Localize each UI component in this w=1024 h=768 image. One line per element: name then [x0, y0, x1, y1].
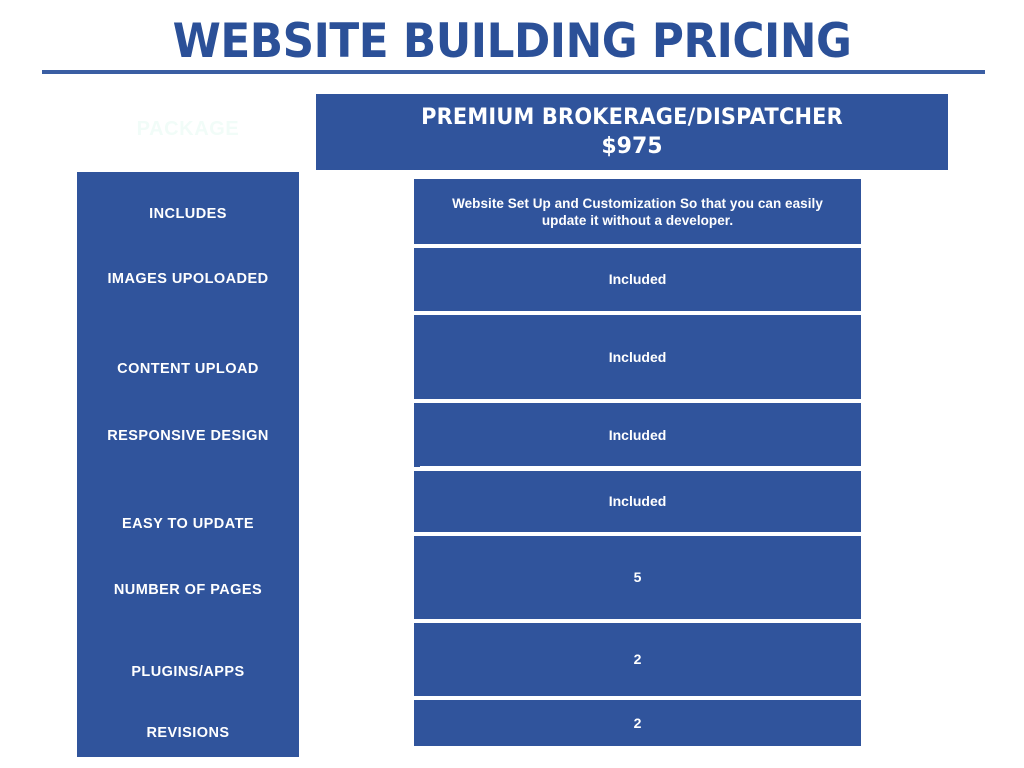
page-title: WEBSITE BUILDING PRICING — [36, 14, 988, 70]
value-cell-content-upload: Included — [414, 315, 861, 399]
feature-label-images-uploaded: IMAGES UPOLOADED — [77, 268, 299, 291]
value-cell-responsive-design: Included — [414, 403, 861, 467]
package-column-header: PACKAGE — [77, 118, 299, 141]
value-cell-number-of-pages: 5 — [414, 536, 861, 619]
title-divider — [42, 70, 985, 74]
value-cell-easy-to-update: Included — [414, 471, 861, 532]
value-cell-includes: Website Set Up and Customization So that… — [414, 179, 861, 244]
row-separator — [420, 466, 861, 471]
feature-label-content-upload: CONTENT UPLOAD — [77, 358, 299, 381]
feature-label-easy-to-update: EASY TO UPDATE — [77, 513, 299, 536]
feature-label-responsive-design: RESPONSIVE DESIGN — [77, 425, 299, 448]
plan-header-card: PREMIUM BROKERAGE/DISPATCHER $975 — [316, 94, 948, 170]
feature-label-number-of-pages: NUMBER OF PAGES — [77, 579, 299, 602]
feature-sidebar: INCLUDES IMAGES UPOLOADED CONTENT UPLOAD… — [77, 172, 299, 757]
value-cell-revisions: 2 — [414, 700, 861, 746]
feature-label-includes: INCLUDES — [77, 203, 299, 226]
feature-label-revisions: REVISIONS — [77, 722, 299, 745]
feature-label-plugins-apps: PLUGINS/APPS — [77, 661, 299, 684]
pricing-slide: WEBSITE BUILDING PRICING PACKAGE PREMIUM… — [0, 0, 1024, 768]
value-cell-plugins-apps: 2 — [414, 623, 861, 696]
value-cell-images-uploaded: Included — [414, 248, 861, 311]
plan-name: PREMIUM BROKERAGE/DISPATCHER — [421, 103, 843, 133]
plan-price: $975 — [601, 133, 662, 161]
